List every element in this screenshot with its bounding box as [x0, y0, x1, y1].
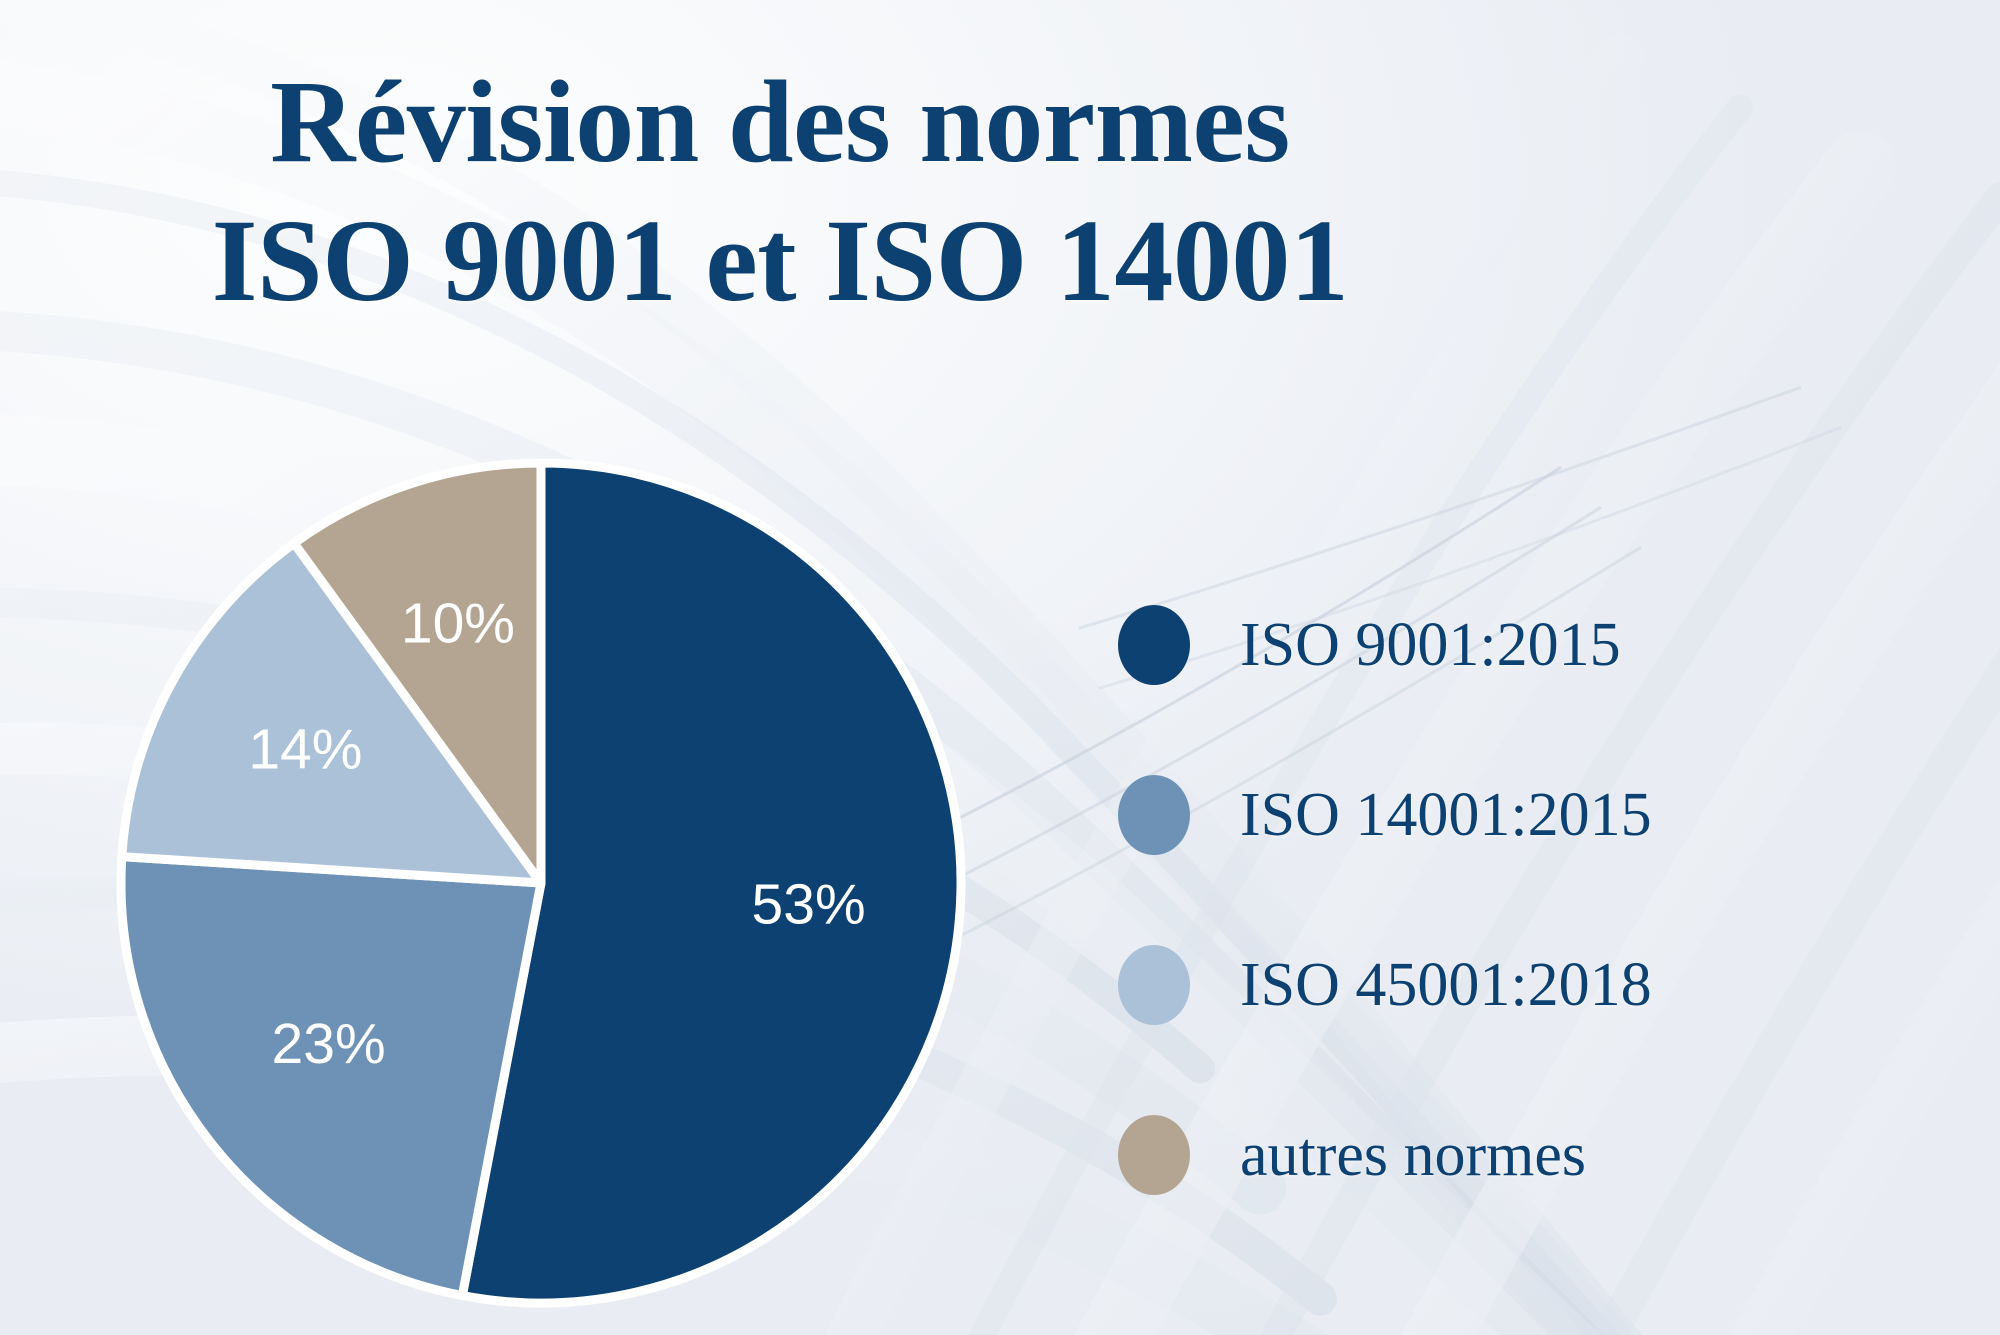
- legend-swatch-icon: [1118, 605, 1190, 685]
- pie-slice-value-label: 23%: [272, 1012, 386, 1076]
- legend-swatch-icon: [1118, 945, 1190, 1025]
- pie-slice-value-label: 53%: [752, 872, 866, 936]
- legend-swatch-icon: [1118, 775, 1190, 855]
- chart-legend: ISO 9001:2015ISO 14001:2015ISO 45001:201…: [1118, 560, 1958, 1240]
- legend-item-label: autres normes: [1240, 1124, 1586, 1186]
- pie-slice-value-label: 10%: [401, 591, 515, 655]
- legend-item[interactable]: ISO 45001:2018: [1118, 900, 1958, 1070]
- legend-swatch-icon: [1118, 1115, 1190, 1195]
- legend-item[interactable]: autres normes: [1118, 1070, 1958, 1240]
- legend-item[interactable]: ISO 9001:2015: [1118, 560, 1958, 730]
- infographic-canvas: Révision des normes ISO 9001 et ISO 1400…: [0, 0, 2000, 1335]
- legend-item-label: ISO 9001:2015: [1240, 614, 1621, 676]
- legend-item[interactable]: ISO 14001:2015: [1118, 730, 1958, 900]
- pie-slice: [121, 857, 541, 1296]
- legend-item-label: ISO 14001:2015: [1240, 784, 1652, 846]
- pie-slice-value-label: 14%: [248, 718, 362, 782]
- legend-item-label: ISO 45001:2018: [1240, 954, 1652, 1016]
- pie-chart: 53%23%14%10%: [116, 458, 966, 1308]
